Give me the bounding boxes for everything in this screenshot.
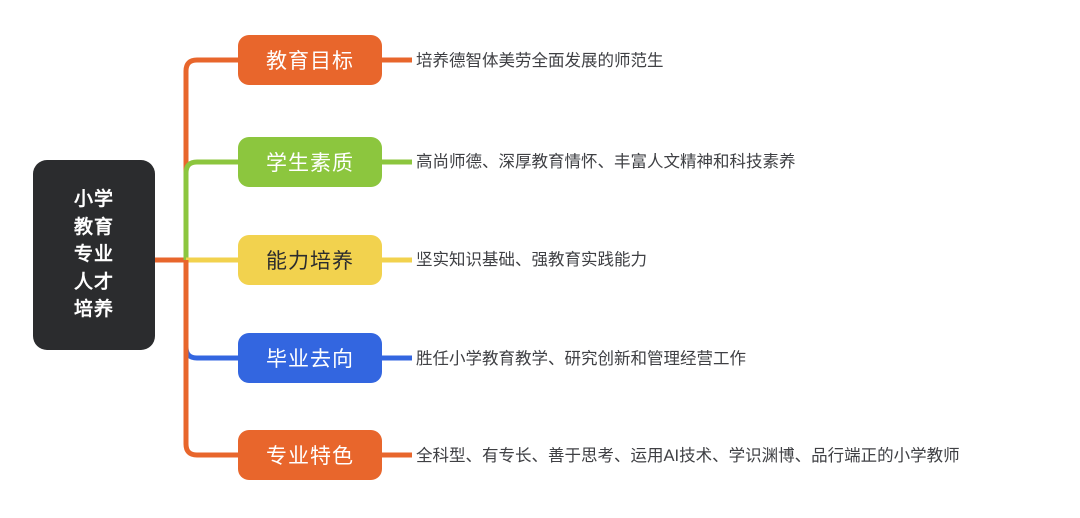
root-line-5: 培养 xyxy=(74,296,114,324)
branch-node-major-features[interactable]: 专业特色 xyxy=(238,430,382,480)
branch-node-education-goal[interactable]: 教育目标 xyxy=(238,35,382,85)
branch-label: 毕业去向 xyxy=(266,343,354,373)
branch-label: 教育目标 xyxy=(266,45,354,75)
branch-node-graduation-destination[interactable]: 毕业去向 xyxy=(238,333,382,383)
branch-description-graduation-destination: 胜任小学教育教学、研究创新和管理经营工作 xyxy=(416,351,746,368)
root-line-4: 人才 xyxy=(74,269,114,297)
root-line-2: 教育 xyxy=(74,214,114,242)
branch-description-major-features: 全科型、有专长、善于思考、运用AI技术、学识渊博、品行端正的小学教师 xyxy=(416,448,960,465)
mind-map-canvas: 小学 教育 专业 人才 培养 教育目标 培养德智体美劳全面发展的师范生 学生素质… xyxy=(0,0,1080,518)
branch-description-education-goal: 培养德智体美劳全面发展的师范生 xyxy=(416,53,664,70)
root-node[interactable]: 小学 教育 专业 人才 培养 xyxy=(33,160,155,350)
root-line-1: 小学 xyxy=(74,186,114,214)
branch-label: 学生素质 xyxy=(266,147,354,177)
root-line-3: 专业 xyxy=(74,241,114,269)
branch-label: 专业特色 xyxy=(266,440,354,470)
branch-node-ability-training[interactable]: 能力培养 xyxy=(238,235,382,285)
branch-node-student-quality[interactable]: 学生素质 xyxy=(238,137,382,187)
branch-description-student-quality: 高尚师德、深厚教育情怀、丰富人文精神和科技素养 xyxy=(416,154,796,171)
branch-description-ability-training: 坚实知识基础、强教育实践能力 xyxy=(416,252,647,269)
branch-label: 能力培养 xyxy=(266,245,354,275)
